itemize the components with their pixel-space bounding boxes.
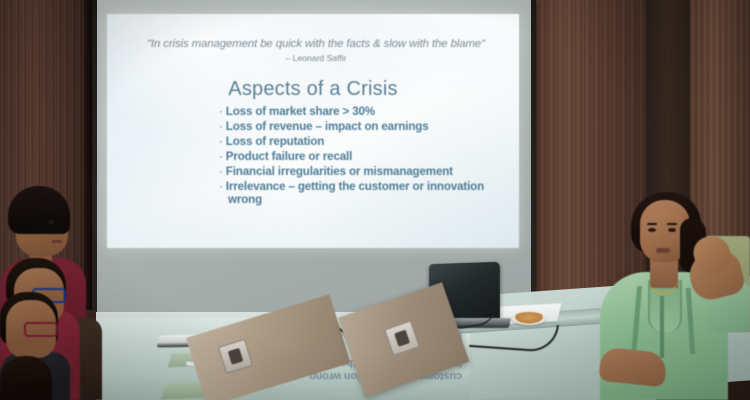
bullet-marker-icon: · [219,165,223,178]
bullet-marker-icon: · [219,135,223,148]
power-socket [218,339,253,374]
list-item: · Product failure or recall [219,150,509,163]
bullet-text: Loss of market share > 30% [226,105,375,118]
list-item: · Irrelevance – getting the customer or … [219,180,509,207]
meeting-room-photo: "In crisis management be quick with the … [0,0,750,400]
presenter-eyebrow [667,223,677,225]
presenter-mouth [656,248,670,253]
presenter-eye [668,228,676,232]
presenter-eye [648,228,656,232]
attendee-head [0,356,52,400]
bullet-text: Product failure or recall [226,150,352,163]
attendee-mouth [52,240,62,243]
bullet-marker-icon: · [219,150,223,163]
attendee-glasses [24,322,58,337]
presenter-eyebrow [647,223,657,225]
bullet-marker-icon: · [219,105,223,118]
list-item: · Loss of revenue – impact on earnings [219,120,509,133]
bullet-text: Financial irregularities or mismanagemen… [226,165,453,178]
slide-bullet-list: · Loss of market share > 30% · Loss of r… [219,105,509,208]
presenter-placket [660,296,664,358]
bullet-text: Irrelevance – getting the customer or in… [226,180,484,206]
power-socket [384,320,420,356]
projected-slide: "In crisis management be quick with the … [107,14,519,248]
slide-quote: "In crisis management be quick with the … [133,38,499,50]
bullet-text: Loss of reputation [226,135,324,148]
slide-title: Aspects of a Crisis [107,78,519,101]
list-item: · Loss of reputation [219,135,509,148]
attendee-eye [48,220,55,224]
snack-plate [512,312,546,325]
list-item: · Financial irregularities or mismanagem… [219,165,509,178]
bullet-text: Loss of revenue – impact on earnings [226,120,429,133]
slide-quote-attribution: – Leonard Saffir [133,53,499,63]
bullet-marker-icon: · [219,120,223,133]
list-item: · Loss of market share > 30% [219,105,509,118]
bullet-marker-icon: · [219,180,223,193]
